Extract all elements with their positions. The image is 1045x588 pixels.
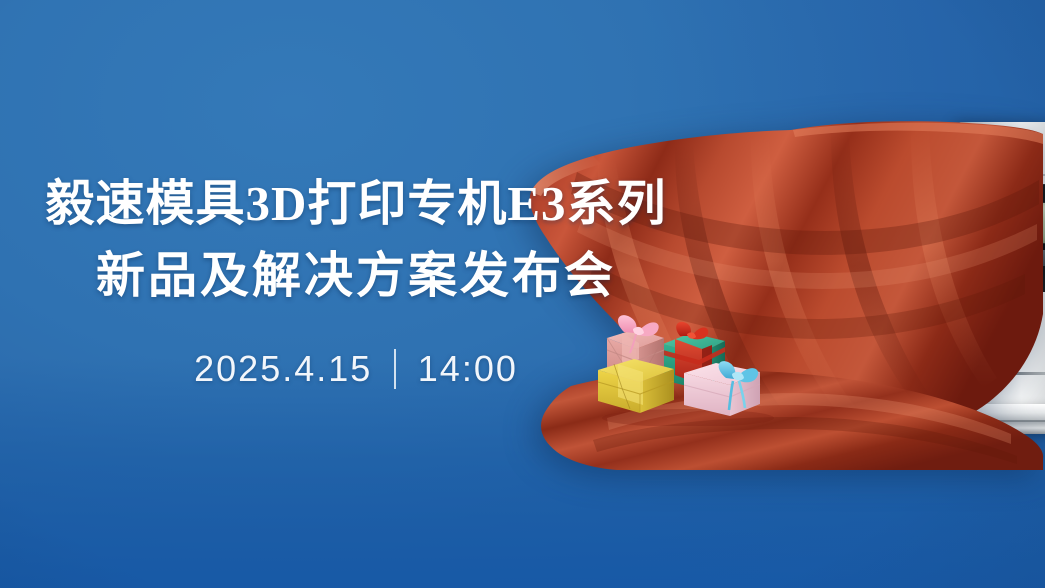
headline-line-1: 毅速模具3D打印专机E3系列 — [0, 168, 712, 240]
headline-line-2: 新品及解决方案发布会 — [0, 240, 712, 312]
gift-stack-shadow — [602, 409, 774, 426]
datetime-separator — [394, 349, 396, 389]
event-date: 2025.4.15 — [194, 348, 372, 390]
event-poster: 毅速模具3D打印专机E3系列 新品及解决方案发布会 2025.4.15 14:0… — [0, 0, 1045, 588]
event-datetime: 2025.4.15 14:00 — [0, 348, 712, 390]
event-time: 14:00 — [418, 348, 518, 390]
poster-text-block: 毅速模具3D打印专机E3系列 新品及解决方案发布会 2025.4.15 14:0… — [0, 168, 712, 390]
